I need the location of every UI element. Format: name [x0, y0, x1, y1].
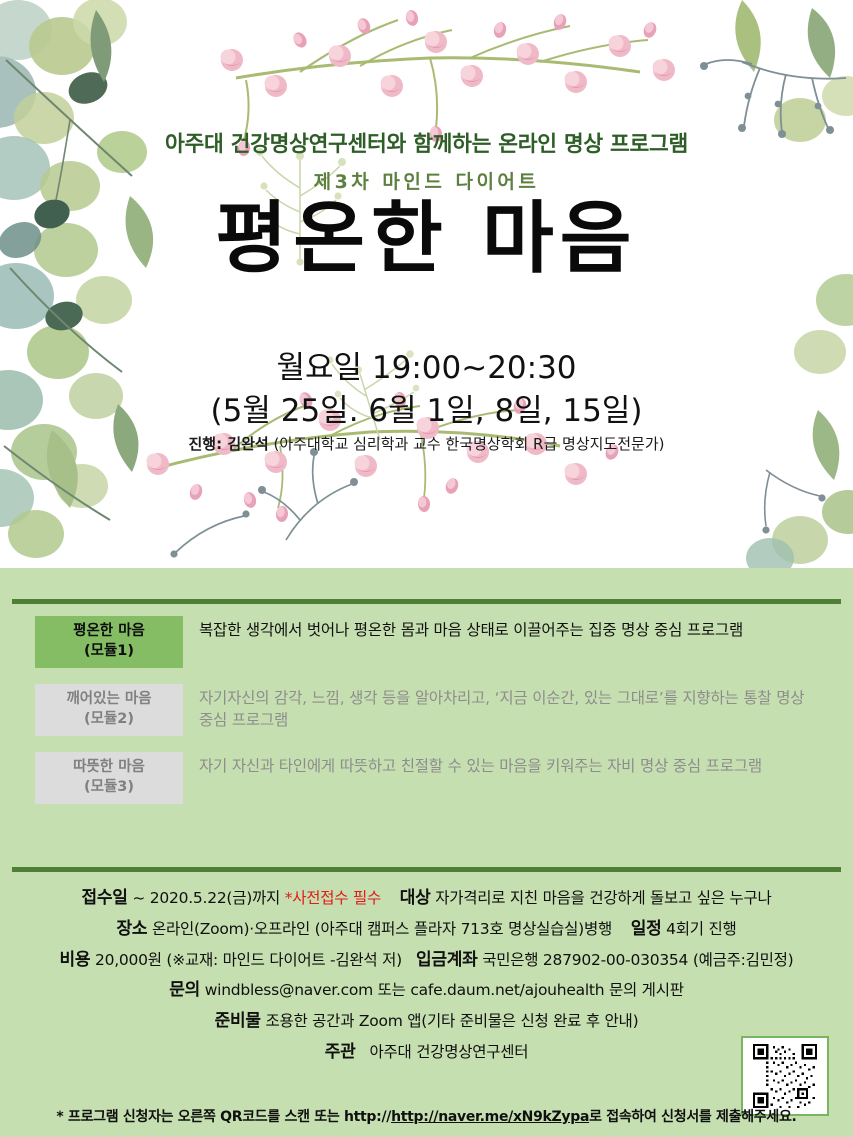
module-description-2: 자기자신의 감각, 느낌, 생각 등을 알아차리고, ‘지금 이순간, 있는 그…: [183, 684, 823, 732]
reception-value: ~ 2020.5.22(금)까지: [132, 889, 280, 907]
footer-prefix: * 프로그램 신청자는 오른쪽 QR코드를 스캔 또는 http://: [56, 1109, 391, 1125]
footer-note: * 프로그램 신청자는 오른쪽 QR코드를 스캔 또는 http://http:…: [0, 1106, 853, 1126]
module-list: 평온한 마음 (모듈1) 복잡한 생각에서 벗어나 평온한 몸과 마음 상태로 …: [0, 616, 853, 820]
module-name: 평온한 마음: [73, 622, 145, 642]
cost-value: 20,000원 (※교재: 마인드 다이어트 -김완석 저): [95, 951, 402, 969]
module-row: 따뜻한 마음 (모듈3) 자기 자신과 타인에게 따뜻하고 친절할 수 있는 마…: [0, 752, 853, 804]
divider-top: [12, 599, 841, 604]
info-line-contact: 문의 windbless@naver.com 또는 cafe.daum.net/…: [0, 978, 853, 1004]
page-title: 평온한 마음: [0, 196, 853, 283]
schedule-label: 일정: [631, 919, 662, 939]
host-value: 아주대 건강명상연구센터: [370, 1043, 529, 1061]
session-dates: (5월 25일. 6월 1일, 8일, 15일): [0, 385, 853, 430]
qr-code-container[interactable]: [741, 1036, 829, 1116]
module-row: 평온한 마음 (모듈1) 복잡한 생각에서 벗어나 평온한 몸과 마음 상태로 …: [0, 616, 853, 668]
module-number: (모듈3): [84, 778, 134, 798]
cost-label: 비용: [60, 950, 91, 970]
kicker-text: 아주대 건강명상연구센터와 함께하는 온라인 명상 프로그램: [0, 127, 853, 158]
module-number: (모듈2): [84, 710, 134, 730]
info-line-host: 주관 아주대 건강명상연구센터: [0, 1040, 853, 1066]
divider-bottom: [12, 867, 841, 872]
account-value: 국민은행 287902-00-030354 (예금주:김민정): [482, 951, 793, 969]
info-line-cost: 비용 20,000원 (※교재: 마인드 다이어트 -김완석 저) 입금계좌 국…: [0, 948, 853, 974]
info-line-reception: 접수일 ~ 2020.5.22(금)까지 *사전접수 필수 대상 자가격리로 지…: [0, 886, 853, 912]
application-url[interactable]: http://naver.me/xN9kZypa: [391, 1109, 589, 1125]
poster-header: 아주대 건강명상연구센터와 함께하는 온라인 명상 프로그램 제3차 마인드 다…: [0, 0, 853, 568]
module-chip-3: 따뜻한 마음 (모듈3): [35, 752, 183, 804]
supplies-value: 조용한 공간과 Zoom 앱(기타 준비물은 신청 완료 후 안내): [265, 1012, 638, 1030]
presenter-credentials: (아주대학교 심리학과 교수 한국명상학회 R급 명상지도전문가): [274, 435, 665, 453]
host-label: 주관: [325, 1042, 356, 1062]
info-line-place: 장소 온라인(Zoom)·오프라인 (아주대 캠퍼스 플라자 713호 명상실습…: [0, 917, 853, 943]
module-name: 따뜻한 마음: [73, 758, 145, 778]
reception-note: *사전접수 필수: [285, 889, 381, 907]
contact-label: 문의: [169, 980, 200, 1000]
target-label: 대상: [400, 888, 431, 908]
info-line-supplies: 준비물 조용한 공간과 Zoom 앱(기타 준비물은 신청 완료 후 안내): [0, 1009, 853, 1035]
footer-suffix: 로 접속하여 신청서를 제출해주세요.: [589, 1109, 796, 1125]
module-row: 깨어있는 마음 (모듈2) 자기자신의 감각, 느낌, 생각 등을 알아차리고,…: [0, 684, 853, 736]
registration-info: 접수일 ~ 2020.5.22(금)까지 *사전접수 필수 대상 자가격리로 지…: [0, 886, 853, 1071]
schedule-value: 4회기 진행: [666, 920, 736, 938]
module-chip-2: 깨어있는 마음 (모듈2): [35, 684, 183, 736]
presenter-line: 진행: 김완석 (아주대학교 심리학과 교수 한국명상학회 R급 명상지도전문가…: [0, 433, 853, 454]
target-value: 자가격리로 지친 마음을 건강하게 돌보고 싶은 누구나: [435, 889, 771, 907]
reception-label: 접수일: [82, 888, 128, 908]
module-number: (모듈1): [84, 642, 134, 662]
meditation-program-poster: 아주대 건강명상연구센터와 함께하는 온라인 명상 프로그램 제3차 마인드 다…: [0, 0, 853, 1137]
supplies-label: 준비물: [215, 1011, 261, 1031]
module-name: 깨어있는 마음: [66, 690, 151, 710]
place-label: 장소: [116, 919, 147, 939]
contact-value: windbless@naver.com 또는 cafe.daum.net/ajo…: [205, 981, 684, 999]
presenter-name: 진행: 김완석: [189, 435, 269, 453]
module-chip-1: 평온한 마음 (모듈1): [35, 616, 183, 668]
session-time: 월요일 19:00~20:30: [0, 342, 853, 387]
account-label: 입금계좌: [416, 950, 478, 970]
subkicker-text: 제3차 마인드 다이어트: [0, 167, 853, 194]
module-description-3: 자기 자신과 타인에게 따뜻하고 친절할 수 있는 마음을 키워주는 자비 명상…: [183, 752, 823, 777]
qr-code-icon[interactable]: [753, 1044, 817, 1108]
place-value: 온라인(Zoom)·오프라인 (아주대 캠퍼스 플라자 713호 명상실습실)병…: [152, 920, 612, 938]
program-detail-panel: 평온한 마음 (모듈1) 복잡한 생각에서 벗어나 평온한 몸과 마음 상태로 …: [0, 568, 853, 1137]
module-description-1: 복잡한 생각에서 벗어나 평온한 몸과 마음 상태로 이끌어주는 집중 명상 중…: [183, 616, 823, 641]
